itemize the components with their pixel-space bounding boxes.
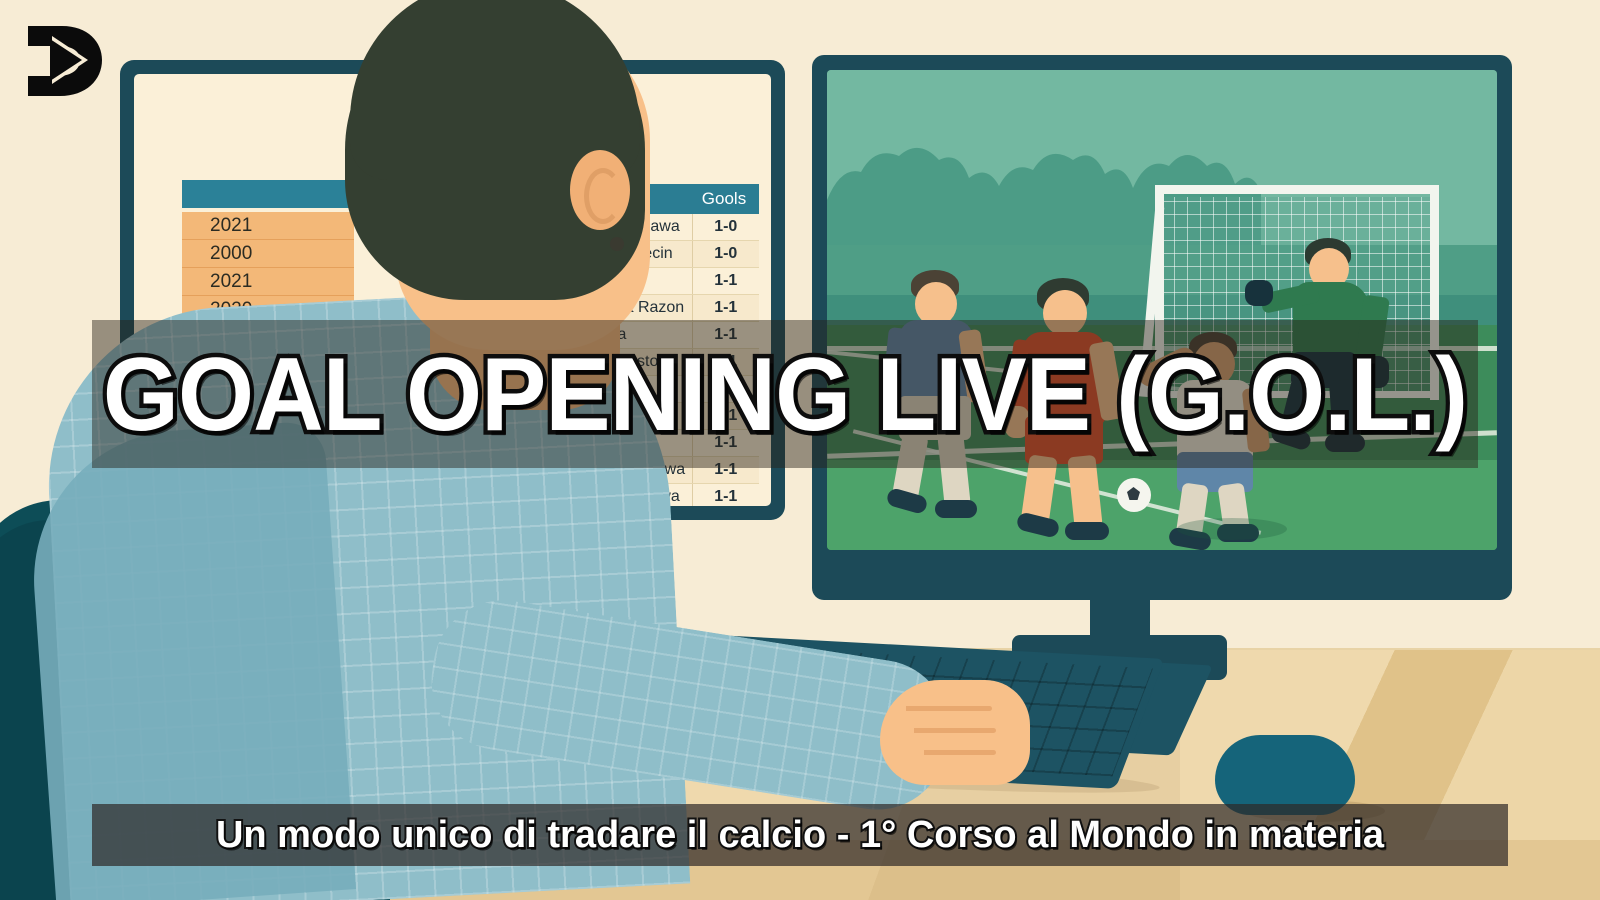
right-monitor-screen	[827, 70, 1497, 550]
player-shadow	[1177, 518, 1287, 540]
cell-goals: 1-0	[693, 214, 760, 240]
column-header-goals: Gools	[689, 184, 759, 214]
cell-goals: 1-1	[693, 295, 760, 321]
cell-goals: 1-1	[693, 268, 760, 294]
mole	[610, 237, 624, 251]
boot	[935, 500, 977, 518]
ear-inner	[584, 168, 622, 224]
person-hand	[880, 680, 1030, 785]
boot	[885, 487, 928, 515]
d-arrow-logo-icon[interactable]	[22, 22, 104, 100]
right-monitor-neck	[1090, 565, 1150, 640]
poster-canvas: 2021 2000 2021 2020 20 Search Criteria H…	[0, 0, 1600, 900]
subtitle: Un modo unico di tradare il calcio - 1° …	[92, 804, 1508, 866]
glove	[1245, 280, 1273, 306]
finger-line	[914, 728, 996, 733]
boot	[1015, 511, 1060, 539]
finger-line	[906, 706, 992, 711]
finger-line	[924, 750, 996, 755]
mouse[interactable]	[1215, 735, 1355, 815]
soccer-ball-icon	[1117, 478, 1151, 512]
cell-goals: 1-0	[693, 241, 760, 267]
goal-crossbar	[1155, 185, 1439, 194]
boot	[1065, 522, 1109, 540]
main-title: GOAL OPENING LIVE (G.O.L.)	[134, 328, 1437, 462]
cell-goals: 1-1	[693, 484, 760, 506]
